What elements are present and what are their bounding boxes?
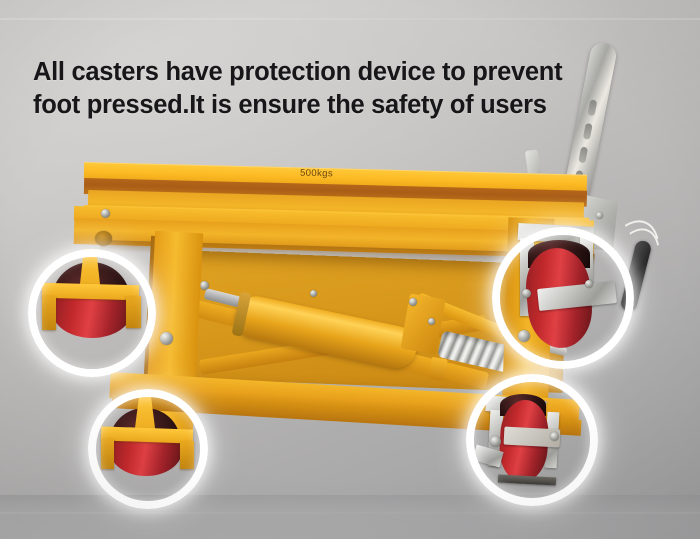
bolt — [310, 290, 317, 297]
bolt — [490, 436, 501, 447]
guard-bracket-left — [42, 296, 56, 330]
capacity-label: 500kgs — [300, 168, 333, 180]
caster-base-shadow — [498, 474, 556, 485]
bolt — [409, 298, 417, 306]
bolt — [585, 280, 593, 288]
page-title: All casters have protection device to pr… — [33, 56, 633, 122]
guard-bracket-right — [180, 441, 194, 469]
pivot-bolt — [518, 330, 530, 342]
pivot-bolt — [160, 332, 173, 345]
bolt — [428, 318, 435, 325]
bolt — [596, 212, 603, 219]
bolt — [550, 432, 559, 441]
caster-protection-bar — [42, 283, 139, 301]
hole — [95, 231, 112, 246]
guard-bracket-left — [101, 439, 114, 469]
bolt — [200, 281, 209, 290]
product-image-canvas: 500kgs — [0, 0, 700, 539]
guard-bracket-right — [126, 296, 141, 328]
bolt — [522, 289, 531, 298]
bolt — [101, 209, 110, 218]
